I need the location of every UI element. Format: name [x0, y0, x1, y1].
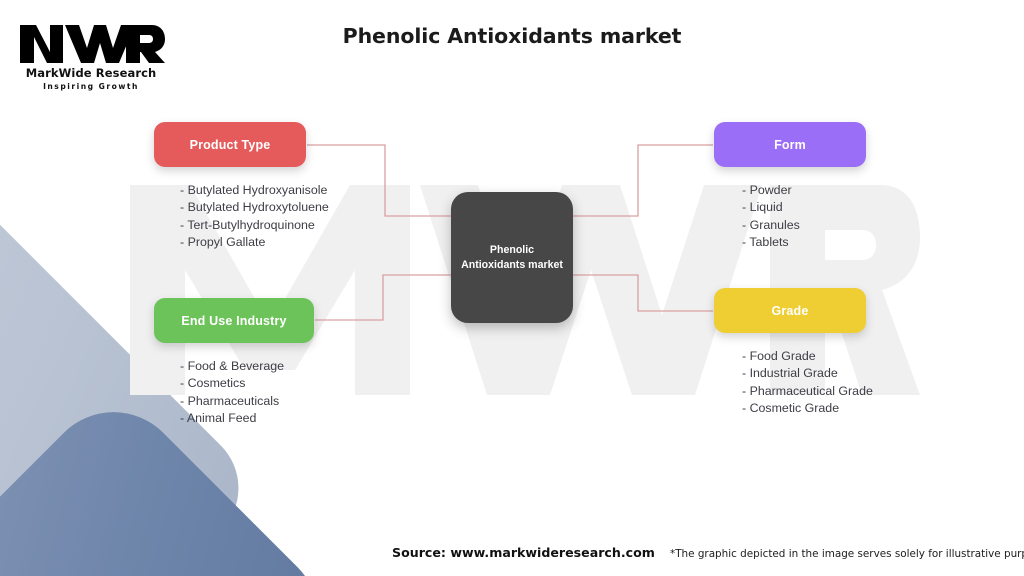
- list-item: - Pharmaceuticals: [180, 393, 314, 410]
- branch-header-grade[interactable]: Grade: [714, 288, 866, 333]
- branch-grade[interactable]: Grade - Food Grade - Industrial Grade - …: [714, 288, 873, 418]
- logo-tagline: Inspiring Growth: [16, 82, 166, 91]
- branch-header-product-type[interactable]: Product Type: [154, 122, 306, 167]
- branch-label-end-use-industry: End Use Industry: [181, 314, 286, 328]
- list-item: - Butylated Hydroxyanisole: [180, 182, 329, 199]
- list-item: - Food Grade: [742, 348, 873, 365]
- branch-list-grade: - Food Grade - Industrial Grade - Pharma…: [742, 348, 873, 418]
- list-item: - Liquid: [742, 199, 866, 216]
- logo-company-name: MarkWide Research: [16, 66, 166, 80]
- list-item: - Tert-Butylhydroquinone: [180, 217, 329, 234]
- branch-form[interactable]: Form - Powder - Liquid - Granules - Tabl…: [714, 122, 866, 252]
- list-item: - Butylated Hydroxytoluene: [180, 199, 329, 216]
- branch-list-form: - Powder - Liquid - Granules - Tablets: [742, 182, 866, 252]
- list-item: - Cosmetics: [180, 375, 314, 392]
- list-item: - Powder: [742, 182, 866, 199]
- branch-label-product-type: Product Type: [190, 138, 271, 152]
- branch-list-product-type: - Butylated Hydroxyanisole - Butylated H…: [180, 182, 329, 252]
- center-node-line2: Antioxidants market: [461, 259, 563, 271]
- list-item: - Food & Beverage: [180, 358, 314, 375]
- list-item: - Animal Feed: [180, 410, 314, 427]
- list-item: - Tablets: [742, 234, 866, 251]
- diagram-canvas: MarkWide Research Inspiring Growth Pheno…: [0, 0, 1024, 576]
- branch-end-use-industry[interactable]: End Use Industry - Food & Beverage - Cos…: [154, 298, 314, 428]
- page-title: Phenolic Antioxidants market: [0, 24, 1024, 48]
- branch-label-form: Form: [774, 138, 806, 152]
- branch-label-grade: Grade: [772, 304, 809, 318]
- center-node-label: Phenolic Antioxidants market: [455, 243, 569, 272]
- branch-header-form[interactable]: Form: [714, 122, 866, 167]
- list-item: - Propyl Gallate: [180, 234, 329, 251]
- center-node: Phenolic Antioxidants market: [451, 192, 573, 323]
- footer-disclaimer: *The graphic depicted in the image serve…: [670, 548, 1024, 560]
- connector-grade: [572, 275, 713, 311]
- footer-source[interactable]: Source: www.markwideresearch.com: [392, 545, 655, 560]
- branch-header-end-use-industry[interactable]: End Use Industry: [154, 298, 314, 343]
- list-item: - Industrial Grade: [742, 365, 873, 382]
- branch-product-type[interactable]: Product Type - Butylated Hydroxyanisole …: [154, 122, 329, 252]
- connector-end-use-industry: [315, 275, 452, 320]
- branch-list-end-use-industry: - Food & Beverage - Cosmetics - Pharmace…: [180, 358, 314, 428]
- connector-form: [572, 145, 713, 216]
- list-item: - Cosmetic Grade: [742, 400, 873, 417]
- center-node-line1: Phenolic: [490, 244, 534, 256]
- list-item: - Pharmaceutical Grade: [742, 383, 873, 400]
- list-item: - Granules: [742, 217, 866, 234]
